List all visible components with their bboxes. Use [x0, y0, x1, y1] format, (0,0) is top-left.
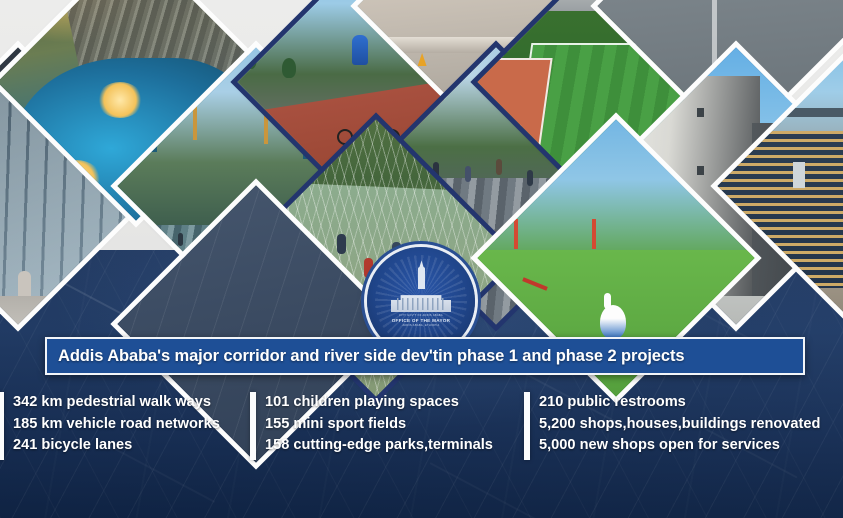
- stat-column-1: 342 km pedestrial walk ways 185 km vehic…: [0, 392, 248, 468]
- stat-line: 101 children playing spaces: [265, 392, 493, 414]
- stat-column-2: 101 children playing spaces 155 mini spo…: [248, 392, 522, 468]
- stat-list-1: 342 km pedestrial walk ways 185 km vehic…: [4, 392, 220, 457]
- stat-line: 155 mini sport fields: [265, 414, 493, 436]
- infographic-poster: CITY GOV'T OF ADDIS ABABA OFFICE OF THE …: [0, 0, 843, 518]
- stat-line: 210 public restrooms: [539, 392, 820, 414]
- stat-line: 158 cutting-edge parks,terminals: [265, 435, 493, 457]
- emblem-top-text: CITY GOV'T OF ADDIS ABABA: [399, 315, 443, 318]
- stat-column-3: 210 public restrooms 5,200 shops,houses,…: [522, 392, 843, 468]
- stat-list-3: 210 public restrooms 5,200 shops,houses,…: [530, 392, 820, 457]
- emblem-bottom-text: ADDIS ABABA, ETHIOPIA: [402, 325, 439, 328]
- stat-line: 241 bicycle lanes: [13, 435, 220, 457]
- page-title: Addis Ababa's major corridor and river s…: [47, 347, 684, 366]
- title-banner: Addis Ababa's major corridor and river s…: [45, 337, 805, 375]
- stat-line: 5,200 shops,houses,buildings renovated: [539, 414, 820, 436]
- city-hall-icon: [391, 278, 451, 312]
- stat-list-2: 101 children playing spaces 155 mini spo…: [256, 392, 493, 457]
- stat-line: 185 km vehicle road networks: [13, 414, 220, 436]
- stat-line: 342 km pedestrial walk ways: [13, 392, 220, 414]
- stat-line: 5,000 new shops open for services: [539, 435, 820, 457]
- statistics-row: 342 km pedestrial walk ways 185 km vehic…: [0, 392, 843, 468]
